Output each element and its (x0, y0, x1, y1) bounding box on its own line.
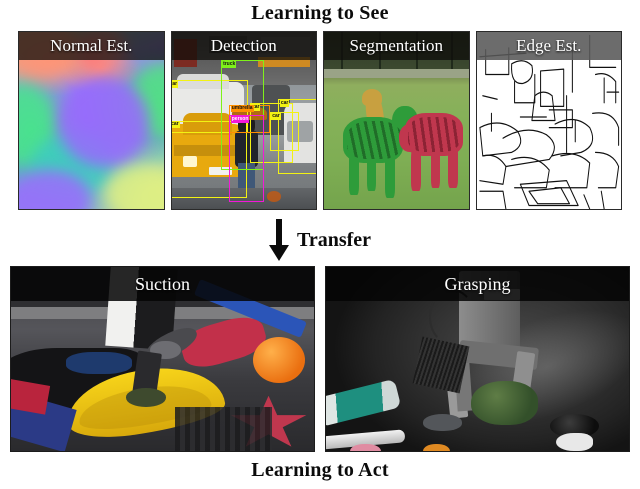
detection-label-car: car (280, 100, 290, 107)
page-title-learning-to-act: Learning to Act (0, 459, 640, 482)
arrow-down-icon (269, 219, 289, 261)
detection-label-car: car (171, 81, 179, 88)
perception-panel-row: Normal Est. (18, 31, 622, 210)
transfer-label: Transfer (297, 229, 371, 252)
panel-label-edge-estimation: Edge Est. (477, 32, 622, 60)
panel-detection: car car car car car person umbrella truc… (171, 31, 318, 210)
panel-grasping: Grasping (325, 266, 630, 452)
detection-label-car: car (271, 113, 281, 120)
panel-label-detection: Detection (172, 32, 317, 60)
detection-label-person: person (231, 116, 250, 123)
panel-label-normal-estimation: Normal Est. (19, 32, 164, 60)
panel-segmentation: Segmentation (323, 31, 470, 210)
page-title-learning-to-see: Learning to See (0, 2, 640, 25)
panel-label-grasping: Grasping (326, 267, 629, 301)
figure-root: Learning to See Normal Est. (0, 0, 640, 489)
panel-normal-estimation: Normal Est. (18, 31, 165, 210)
manipulation-panel-row: Suction (10, 266, 630, 452)
detection-label-umbrella: umbrella (231, 105, 254, 112)
detection-label-truck: truck (222, 61, 236, 68)
transfer-indicator: Transfer (0, 216, 640, 264)
panel-edge-estimation: Edge Est. (476, 31, 623, 210)
panel-label-segmentation: Segmentation (324, 32, 469, 60)
panel-label-suction: Suction (11, 267, 314, 301)
panel-suction: Suction (10, 266, 315, 452)
detection-label-car: car (171, 121, 180, 128)
